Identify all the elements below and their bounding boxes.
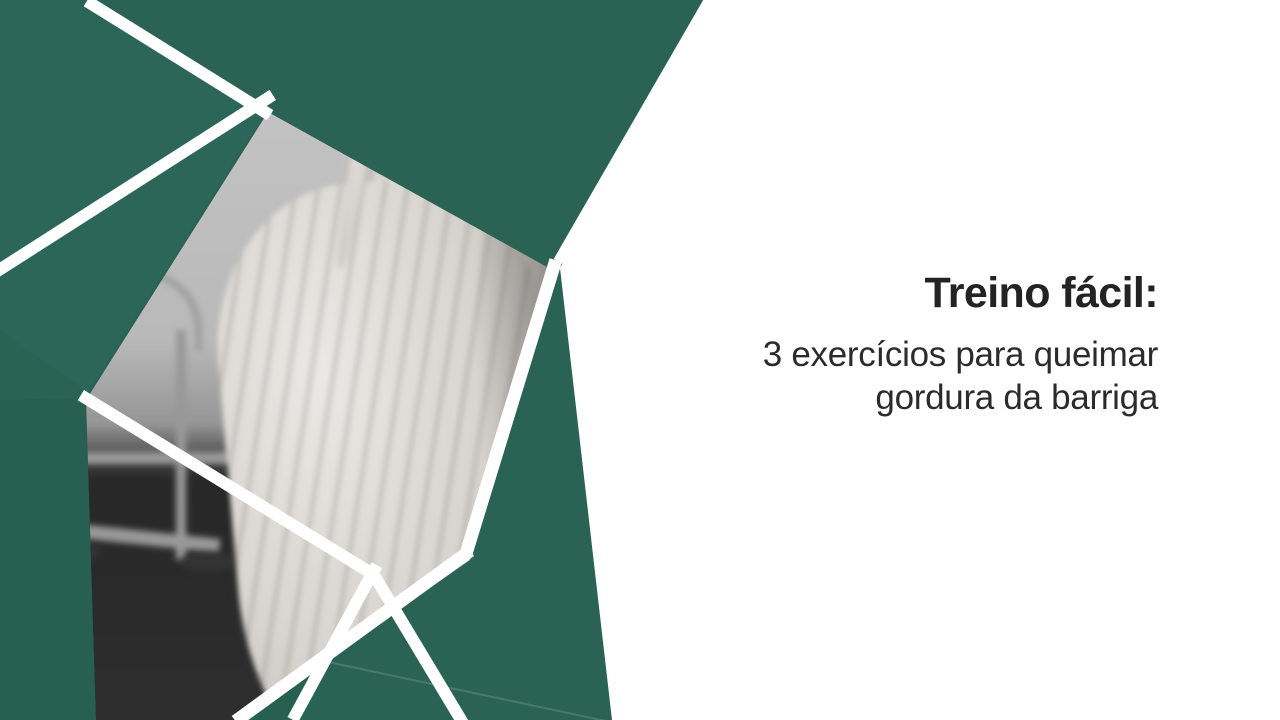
subtitle-line-2: gordura da barriga — [638, 376, 1158, 419]
page-title: Treino fácil: — [638, 272, 1158, 315]
subtitle-line-1: 3 exercícios para queimar — [638, 333, 1158, 376]
geometric-collage — [0, 0, 740, 720]
slide-canvas: Treino fácil: 3 exercícios para queimar … — [0, 0, 1280, 720]
title-text-block: Treino fácil: 3 exercícios para queimar … — [638, 272, 1158, 420]
